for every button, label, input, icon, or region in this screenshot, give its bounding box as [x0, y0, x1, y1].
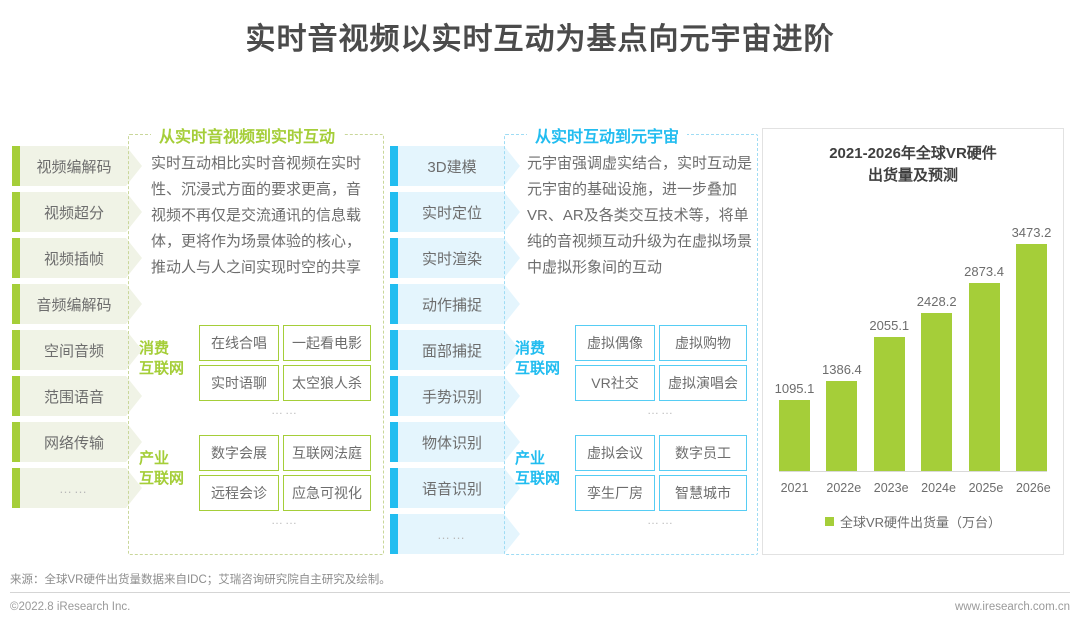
tag-box[interactable]: 太空狼人杀: [283, 365, 371, 401]
chip-more-ellipsis: ……: [12, 468, 142, 508]
category-label: 产业 互联网: [515, 449, 571, 489]
tag-box[interactable]: 一起看电影: [283, 325, 371, 361]
chip-accent-bar: [390, 192, 398, 232]
chip-audio-codec[interactable]: 音频编解码: [12, 284, 142, 324]
category-ellipsis: ……: [199, 403, 371, 417]
category-label-line2: 互联网: [515, 360, 560, 377]
x-tick-label: 2024e: [921, 481, 952, 495]
chip-label: 面部捕捉: [398, 330, 520, 370]
tag-box[interactable]: 虚拟会议: [575, 435, 655, 471]
source-note: 来源：全球VR硬件出货量数据来自IDC；艾瑞咨询研究院自主研究及绘制。: [10, 571, 391, 587]
category-ellipsis: ……: [575, 513, 747, 527]
mid-technology-column: 3D建模 实时定位 实时渲染 动作捕捉 面部捕捉 手势识别 物体识别 语音识别 …: [390, 146, 520, 560]
category-label-line2: 互联网: [515, 470, 560, 487]
category-ellipsis: ……: [199, 513, 371, 527]
category-label-line1: 消费: [139, 340, 169, 357]
tag-box[interactable]: 数字会展: [199, 435, 279, 471]
chip-label: 视频插帧: [20, 238, 142, 278]
x-tick-label: 2026e: [1016, 481, 1047, 495]
chip-label: 网络传输: [20, 422, 142, 462]
bar-value-label: 1386.4: [822, 362, 862, 377]
tag-grid: 虚拟会议 数字员工 孪生厂房 智慧城市: [575, 435, 747, 511]
bar-value-label: 1095.1: [775, 381, 815, 396]
panel-paragraph: 实时互动相比实时音视频在实时性、沉浸式方面的要求更高，音视频不再仅是交流通讯的信…: [151, 151, 373, 281]
bar-value-label: 2428.2: [917, 294, 957, 309]
chip-label: 动作捕捉: [398, 284, 520, 324]
category-label-line2: 互联网: [139, 470, 184, 487]
tag-box[interactable]: 在线合唱: [199, 325, 279, 361]
bar-item: 2873.4: [969, 223, 1000, 471]
footer-divider: [10, 592, 1070, 593]
x-tick-label: 2025e: [969, 481, 1000, 495]
chip-accent-bar: [12, 330, 20, 370]
bar[interactable]: [826, 381, 857, 471]
website-link[interactable]: www.iresearch.com.cn: [955, 601, 1070, 613]
chip-network-transport[interactable]: 网络传输: [12, 422, 142, 462]
bar-value-label: 2873.4: [964, 264, 1004, 279]
chip-realtime-positioning[interactable]: 实时定位: [390, 192, 520, 232]
tag-grid: 虚拟偶像 虚拟购物 VR社交 虚拟演唱会: [575, 325, 747, 401]
chip-gesture-recognition[interactable]: 手势识别: [390, 376, 520, 416]
tag-box[interactable]: 虚拟演唱会: [659, 365, 747, 401]
chip-spatial-audio[interactable]: 空间音频: [12, 330, 142, 370]
category-ellipsis: ……: [575, 403, 747, 417]
legend-swatch-icon: [825, 517, 834, 526]
chip-more-ellipsis: ……: [390, 514, 520, 554]
vr-shipment-chart-card: 2021-2026年全球VR硬件 出货量及预测 1095.11386.42055…: [762, 128, 1064, 555]
tag-box[interactable]: 应急可视化: [283, 475, 371, 511]
chip-label: 音频编解码: [20, 284, 142, 324]
chip-object-recognition[interactable]: 物体识别: [390, 422, 520, 462]
chip-face-capture[interactable]: 面部捕捉: [390, 330, 520, 370]
bar-item: 2428.2: [921, 223, 952, 471]
bar[interactable]: [921, 313, 952, 471]
chip-accent-bar: [12, 422, 20, 462]
chip-speech-recognition[interactable]: 语音识别: [390, 468, 520, 508]
chip-label: 空间音频: [20, 330, 142, 370]
category-label: 消费 互联网: [515, 339, 571, 379]
panel-realtime-interaction: 从实时音视频到实时互动 实时互动相比实时音视频在实时性、沉浸式方面的要求更高，音…: [128, 134, 384, 555]
chip-accent-bar: [390, 514, 398, 554]
chip-accent-bar: [390, 422, 398, 462]
chip-accent-bar: [12, 146, 20, 186]
chip-label: ……: [20, 468, 142, 508]
category-label-line2: 互联网: [139, 360, 184, 377]
chart-title-line2: 出货量及预测: [868, 167, 958, 184]
bar-item: 2055.1: [874, 223, 905, 471]
chip-label: 视频编解码: [20, 146, 142, 186]
chip-label: 语音识别: [398, 468, 520, 508]
bar-item: 1386.4: [826, 223, 857, 471]
chip-accent-bar: [390, 330, 398, 370]
chip-label: 物体识别: [398, 422, 520, 462]
bar-item: 3473.2: [1016, 223, 1047, 471]
chart-plot-area: 1095.11386.42055.12428.22873.43473.2 202…: [777, 207, 1049, 517]
bar[interactable]: [874, 337, 905, 471]
category-label: 产业 互联网: [139, 449, 195, 489]
x-tick-label: 2021: [779, 481, 810, 495]
tag-box[interactable]: 孪生厂房: [575, 475, 655, 511]
legend-label: 全球VR硬件出货量（万台）: [840, 512, 1001, 531]
x-axis-line: [779, 471, 1047, 472]
tag-grid: 在线合唱 一起看电影 实时语聊 太空狼人杀: [199, 325, 371, 401]
x-axis-tick-labels: 20212022e2023e2024e2025e2026e: [779, 481, 1047, 495]
bar[interactable]: [779, 400, 810, 471]
x-tick-label: 2022e: [826, 481, 857, 495]
bar-value-label: 2055.1: [869, 318, 909, 333]
panel-title: 从实时音视频到实时互动: [151, 123, 343, 147]
tag-box[interactable]: 实时语聊: [199, 365, 279, 401]
chip-accent-bar: [390, 376, 398, 416]
bar-item: 1095.1: [779, 223, 810, 471]
chip-range-voice[interactable]: 范围语音: [12, 376, 142, 416]
chip-realtime-rendering[interactable]: 实时渲染: [390, 238, 520, 278]
tag-box[interactable]: 互联网法庭: [283, 435, 371, 471]
panel-metaverse: 从实时互动到元宇宙 元宇宙强调虚实结合，实时互动是元宇宙的基础设施，进一步叠加V…: [504, 134, 758, 555]
chip-video-codec[interactable]: 视频编解码: [12, 146, 142, 186]
chip-label: 实时定位: [398, 192, 520, 232]
category-label-line1: 产业: [139, 450, 169, 467]
bar-value-label: 3473.2: [1012, 225, 1052, 240]
tag-box[interactable]: 虚拟偶像: [575, 325, 655, 361]
chip-accent-bar: [12, 192, 20, 232]
chip-accent-bar: [12, 376, 20, 416]
chip-label: ……: [398, 514, 520, 554]
panel-paragraph: 元宇宙强调虚实结合，实时互动是元宇宙的基础设施，进一步叠加VR、AR及各类交互技…: [527, 151, 755, 281]
chip-label: 手势识别: [398, 376, 520, 416]
bar[interactable]: [1016, 244, 1047, 471]
chart-title-line1: 2021-2026年全球VR硬件: [829, 145, 997, 162]
category-label: 消费 互联网: [139, 339, 195, 379]
tag-grid: 数字会展 互联网法庭 远程会诊 应急可视化: [199, 435, 371, 511]
chip-accent-bar: [390, 284, 398, 324]
category-label-line1: 产业: [515, 450, 545, 467]
tag-box[interactable]: VR社交: [575, 365, 655, 401]
chip-video-superres[interactable]: 视频超分: [12, 192, 142, 232]
left-technology-column: 视频编解码 视频超分 视频插帧 音频编解码 空间音频 范围语音 网络传输 ……: [12, 146, 142, 514]
chip-accent-bar: [12, 468, 20, 508]
chip-label: 3D建模: [398, 146, 520, 186]
chip-accent-bar: [390, 238, 398, 278]
chip-motion-capture[interactable]: 动作捕捉: [390, 284, 520, 324]
tag-box[interactable]: 数字员工: [659, 435, 747, 471]
panel-title: 从实时互动到元宇宙: [527, 123, 687, 147]
category-label-line1: 消费: [515, 340, 545, 357]
tag-box[interactable]: 虚拟购物: [659, 325, 747, 361]
tag-box[interactable]: 远程会诊: [199, 475, 279, 511]
x-tick-label: 2023e: [874, 481, 905, 495]
bar-series: 1095.11386.42055.12428.22873.43473.2: [779, 223, 1047, 471]
chip-frame-interpolation[interactable]: 视频插帧: [12, 238, 142, 278]
copyright-text: ©2022.8 iResearch Inc.: [10, 601, 130, 613]
chip-label: 范围语音: [20, 376, 142, 416]
chip-accent-bar: [390, 146, 398, 186]
chip-accent-bar: [12, 284, 20, 324]
tag-box[interactable]: 智慧城市: [659, 475, 747, 511]
bar[interactable]: [969, 283, 1000, 471]
chart-title: 2021-2026年全球VR硬件 出货量及预测: [763, 143, 1063, 187]
chart-legend: 全球VR硬件出货量（万台）: [777, 512, 1049, 531]
chip-label: 实时渲染: [398, 238, 520, 278]
chip-label: 视频超分: [20, 192, 142, 232]
chip-3d-modeling[interactable]: 3D建模: [390, 146, 520, 186]
page-title: 实时音视频以实时互动为基点向元宇宙进阶: [0, 14, 1080, 58]
chip-accent-bar: [390, 468, 398, 508]
chip-accent-bar: [12, 238, 20, 278]
